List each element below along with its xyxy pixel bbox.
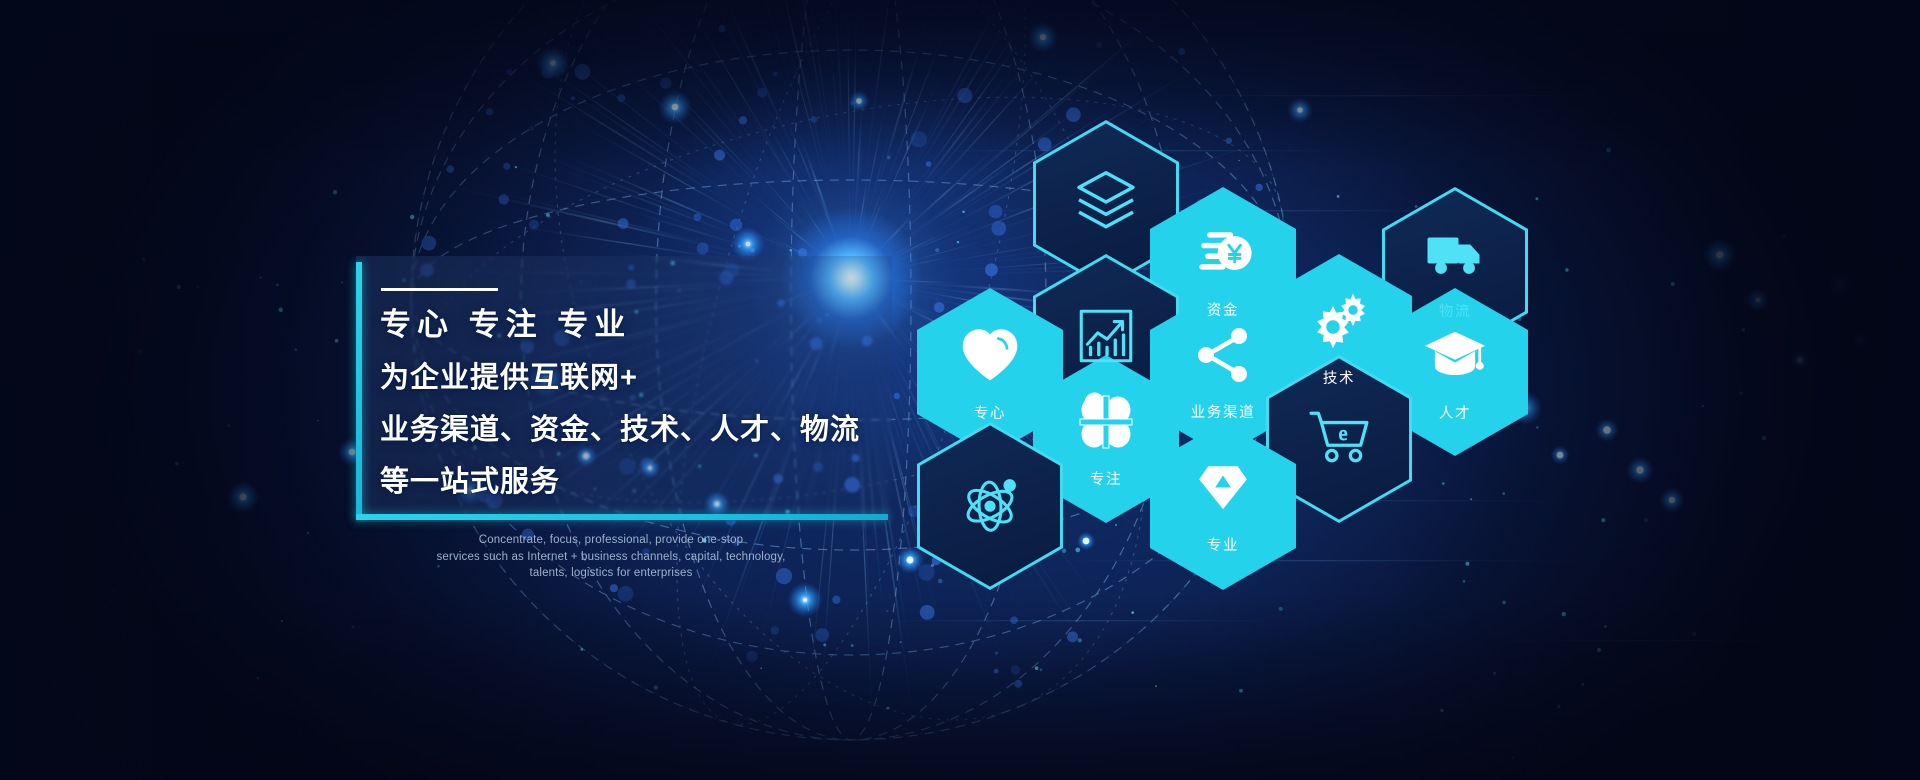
banner-stage: 专心 专注 专业 为企业提供互联网+ 业务渠道、资金、技术、人才、物流 等一站式… xyxy=(0,0,1920,780)
graduation-cap-icon xyxy=(1422,322,1488,393)
layers-icon xyxy=(1070,166,1142,243)
e-cart-icon: e xyxy=(1306,404,1372,475)
gears-icon xyxy=(1307,289,1371,358)
hexagon-label: 专业 xyxy=(1207,534,1239,555)
hexagon-label: 资金 xyxy=(1207,299,1239,320)
hexagon-content xyxy=(917,469,1063,544)
chart-growth-icon xyxy=(1073,303,1139,374)
atom-icon xyxy=(955,469,1025,544)
hexagon-cluster: 资金物流技术专心业务渠道人才专注e专业 xyxy=(0,0,1920,780)
svg-text:e: e xyxy=(1339,424,1348,445)
share-nodes-icon xyxy=(1191,323,1255,392)
diamond-icon xyxy=(1192,458,1254,525)
hexagon-label: 技术 xyxy=(1323,367,1355,388)
heart-icon xyxy=(957,322,1023,393)
yen-money-icon xyxy=(1192,223,1254,290)
hexagon-label: 专心 xyxy=(974,402,1006,423)
hexagon-label: 物流 xyxy=(1439,300,1471,321)
hexagon-label: 人才 xyxy=(1439,402,1471,423)
flower-petals-icon xyxy=(1074,390,1138,459)
hexagon-label: 专注 xyxy=(1090,468,1122,489)
truck-icon xyxy=(1423,222,1487,291)
hexagon-content: 专业 xyxy=(1150,458,1296,555)
hexagon-label: 业务渠道 xyxy=(1191,401,1255,422)
